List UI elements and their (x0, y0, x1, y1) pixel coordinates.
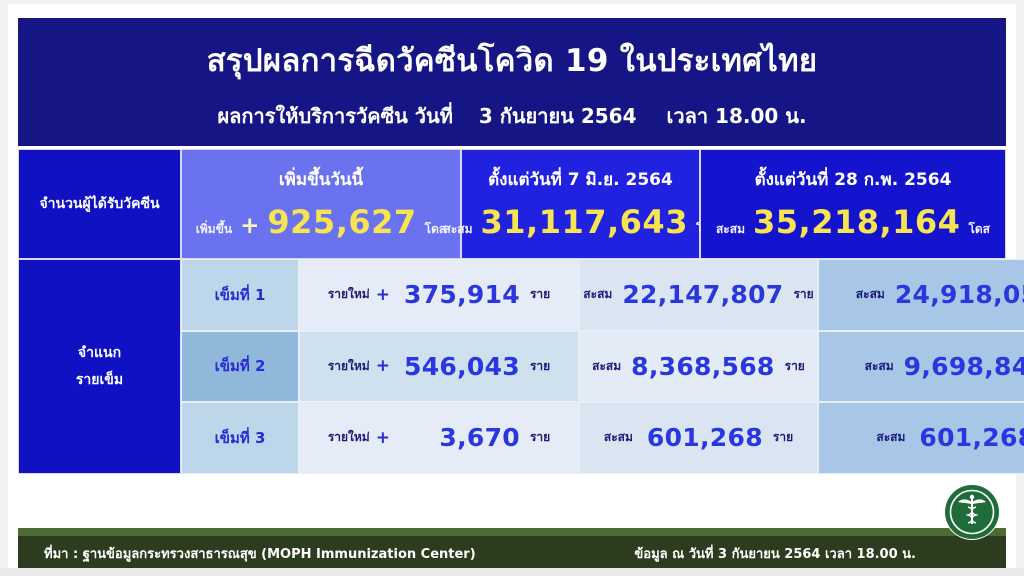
header-cell-today: เพิ่มขึ้นวันนี้ เพิ่มขึ้น + 925,627 โดส (181, 149, 461, 259)
slide-canvas: สรุปผลการฉีดวัคซีนโควิด 19 ในประเทศไทย ผ… (8, 4, 1016, 568)
dose-label-cell: เข็มที่ 2 (181, 331, 299, 403)
moph-logo-icon (942, 482, 1002, 542)
today-plus-sign: + (240, 213, 259, 239)
header-label-total-recipients: จำนวนผู้ได้รับวัคซีน (39, 193, 159, 215)
june-value-dose1: 22,147,807 (622, 280, 783, 309)
today-value-dose3: 3,670 (400, 423, 520, 452)
cell-since-february-dose2: สะสม 9,698,842 ราย (818, 331, 1024, 403)
subtitle-date: 3 กันยายน 2564 (479, 100, 637, 132)
today-plus-sign: + (376, 356, 390, 376)
today-plus-sign: + (376, 428, 390, 448)
header-banner: สรุปผลการฉีดวัคซีนโควิด 19 ในประเทศไทย ผ… (18, 18, 1006, 146)
page-title: สรุปผลการฉีดวัคซีนโควิด 19 ในประเทศไทย (18, 18, 1006, 78)
row-label-breakdown-by-dose: จำแนก รายเข็ม (18, 259, 181, 474)
today-value-dose2: 546,043 (400, 352, 520, 381)
june-cumulative-label: สะสม (583, 285, 612, 304)
june-unit-dose2: ราย (785, 357, 805, 376)
dose-label-cell: เข็มที่ 3 (181, 402, 299, 474)
june-cumulative-label: สะสม (592, 357, 621, 376)
header-value-since-june: สะสม 31,117,643 โดส (444, 203, 718, 241)
today-new-label: รายใหม่ (328, 285, 370, 304)
cell-since-june-dose1: สะสม 22,147,807 ราย (579, 259, 818, 331)
february-total-doses: 35,218,164 (753, 203, 960, 241)
june-unit-dose1: ราย (793, 285, 813, 304)
today-value-dose1: 375,914 (400, 280, 520, 309)
subtitle-time: เวลา 18.00 น. (667, 100, 807, 132)
header-caption-since-february: ตั้งแต่วันที่ 28 ก.พ. 2564 (755, 171, 952, 190)
dose-label: เข็มที่ 2 (215, 354, 266, 378)
subtitle-prefix: ผลการให้บริการวัคซีน วันที่ (217, 100, 452, 132)
breakdown-label-line1: จำแนก (78, 340, 121, 367)
breakdown-label-line2: รายเข็ม (76, 367, 123, 394)
today-unit-dose2: ราย (530, 357, 550, 376)
header-caption-since-june: ตั้งแต่วันที่ 7 มิ.ย. 2564 (488, 171, 673, 190)
header-cell-since-june: ตั้งแต่วันที่ 7 มิ.ย. 2564 สะสม 31,117,6… (461, 149, 700, 259)
today-new-label: รายใหม่ (328, 357, 370, 376)
cell-today-dose3: รายใหม่ + 3,670 ราย (299, 402, 579, 474)
february-value-dose2: 9,698,842 (904, 352, 1024, 381)
february-unit-label: โดส (968, 220, 990, 239)
vaccination-summary-table: จำนวนผู้ได้รับวัคซีน เพิ่มขึ้นวันนี้ เพิ… (18, 149, 1006, 474)
today-plus-sign: + (376, 285, 390, 305)
bottom-edge-artifact (0, 568, 1024, 576)
slide-screenshot: สรุปผลการฉีดวัคซีนโควิด 19 ในประเทศไทย ผ… (0, 0, 1024, 576)
february-cumulative-label: สะสม (856, 285, 885, 304)
june-total-doses: 31,117,643 (481, 203, 688, 241)
cell-since-june-dose3: สะสม 601,268 ราย (579, 402, 818, 474)
today-total-doses: 925,627 (267, 203, 416, 241)
february-prefix-label: สะสม (716, 220, 745, 239)
footer-as-of: ข้อมูล ณ วันที่ 3 กันยายน 2564 เวลา 18.0… (634, 543, 980, 564)
february-value-dose1: 24,918,054 (895, 280, 1024, 309)
june-value-dose3: 601,268 (643, 423, 763, 452)
june-value-dose2: 8,368,568 (631, 352, 774, 381)
february-cumulative-label: สะสม (865, 357, 894, 376)
footer-accent-strip (18, 528, 1006, 536)
cell-since-february-dose1: สะสม 24,918,054 ราย (818, 259, 1024, 331)
cell-today-dose2: รายใหม่ + 546,043 ราย (299, 331, 579, 403)
june-unit-dose3: ราย (773, 428, 793, 447)
june-cumulative-label: สะสม (604, 428, 633, 447)
cell-today-dose1: รายใหม่ + 375,914 ราย (299, 259, 579, 331)
header-cell-total-recipients: จำนวนผู้ได้รับวัคซีน (18, 149, 181, 259)
header-value-since-february: สะสม 35,218,164 โดส (716, 203, 990, 241)
footer-source: ที่มา : ฐานข้อมูลกระทรวงสาธารณสุข (MOPH … (44, 543, 476, 564)
header-value-today: เพิ่มขึ้น + 925,627 โดส (196, 203, 446, 241)
february-value-dose3: 601,268 (915, 423, 1024, 452)
dose-label: เข็มที่ 3 (215, 426, 266, 450)
today-prefix-label: เพิ่มขึ้น (196, 220, 232, 239)
header-caption-today: เพิ่มขึ้นวันนี้ (279, 171, 363, 190)
today-unit-dose3: ราย (530, 428, 550, 447)
dose-label: เข็มที่ 1 (215, 283, 266, 307)
today-unit-dose1: ราย (530, 285, 550, 304)
today-new-label: รายใหม่ (328, 428, 370, 447)
cell-since-february-dose3: สะสม 601,268 ราย (818, 402, 1024, 474)
february-cumulative-label: สะสม (876, 428, 905, 447)
header-cell-since-february: ตั้งแต่วันที่ 28 ก.พ. 2564 สะสม 35,218,1… (700, 149, 1006, 259)
table-header-row: จำนวนผู้ได้รับวัคซีน เพิ่มขึ้นวันนี้ เพิ… (18, 149, 1006, 259)
june-prefix-label: สะสม (444, 220, 473, 239)
dose-label-cell: เข็มที่ 1 (181, 259, 299, 331)
cell-since-june-dose2: สะสม 8,368,568 ราย (579, 331, 818, 403)
page-subtitle: ผลการให้บริการวัคซีน วันที่3 กันยายน 256… (18, 78, 1006, 132)
footer-bar: ที่มา : ฐานข้อมูลกระทรวงสาธารณสุข (MOPH … (18, 536, 1006, 570)
